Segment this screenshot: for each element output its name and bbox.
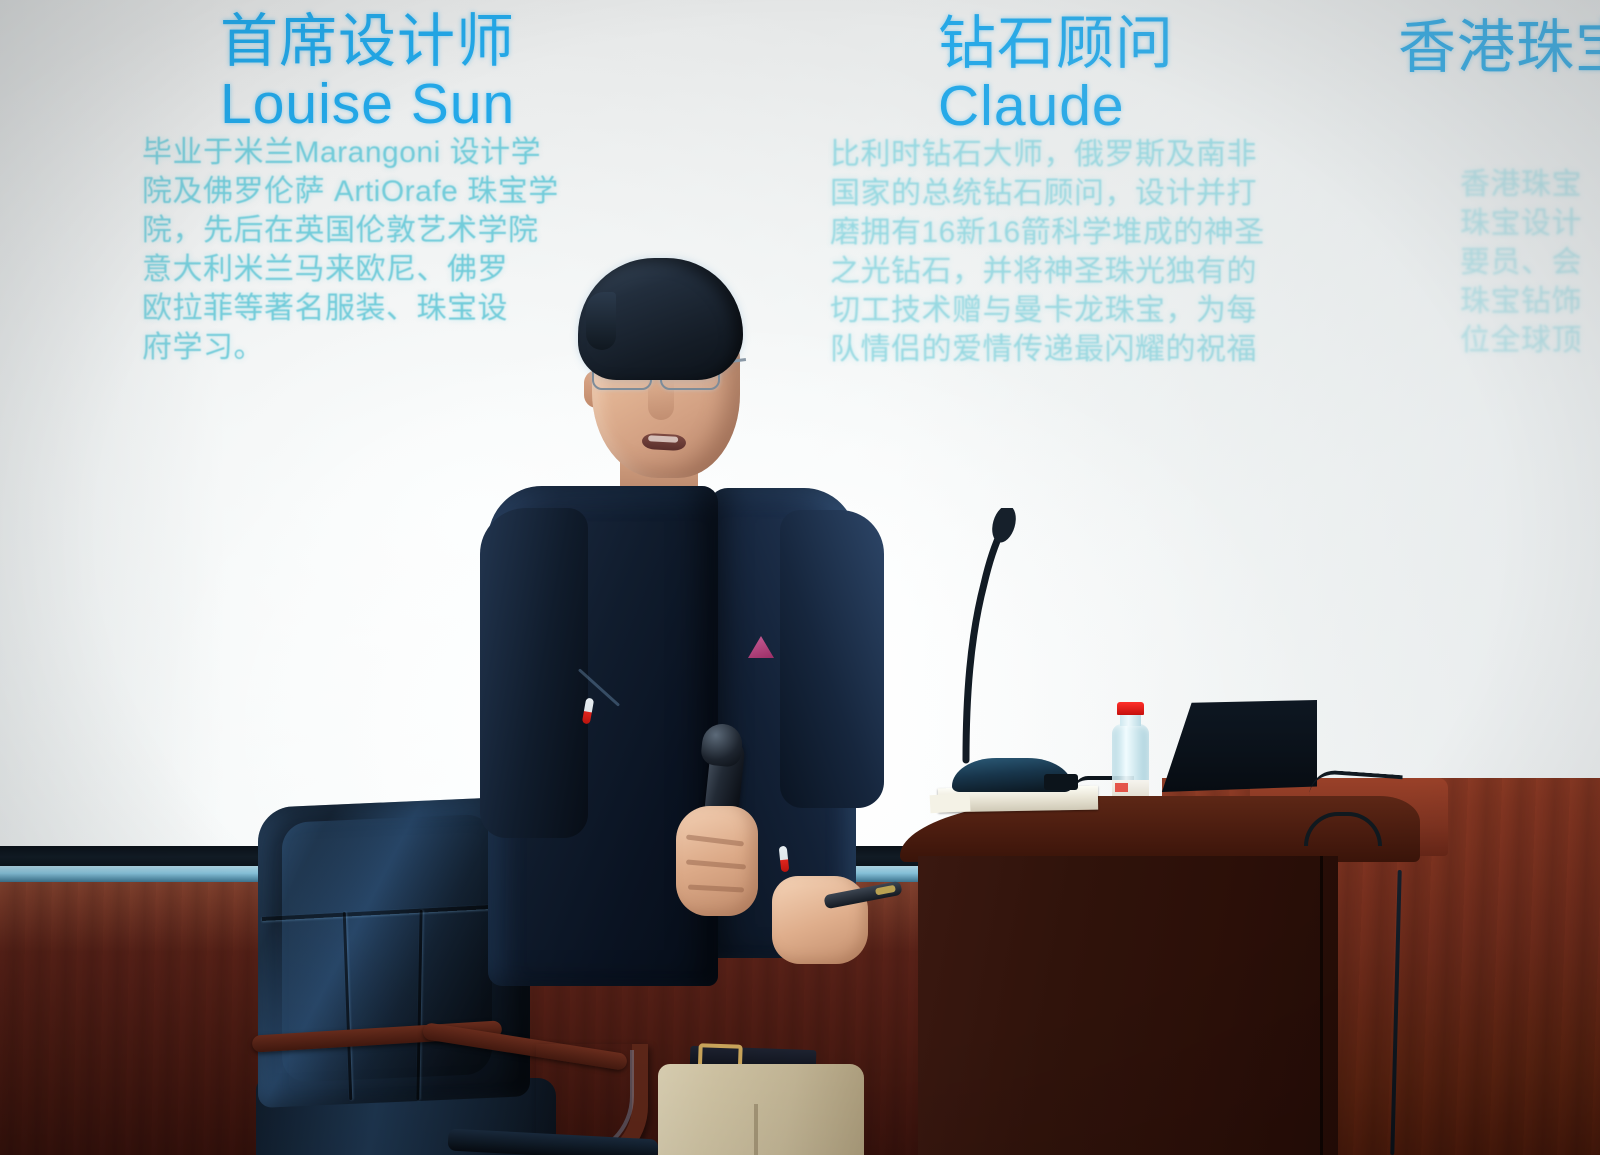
bottle-label [1112,780,1149,796]
bottle-neck [1120,714,1141,726]
lectern-edge [1320,856,1323,1155]
slide-column-1-title-cn: 首席设计师 [220,12,742,71]
slide-column-3-title-cn: 香港珠宝 [1398,18,1600,77]
presenter [480,258,900,1155]
slide-column-2-title-en: Claude [938,77,1370,135]
slide-line: 切工技术赠与曼卡龙珠宝，为每 [830,291,1370,330]
slide-column-3-body: 香港珠宝 珠宝设计 要员、会 珠宝钻饰 位全球顶 [1398,165,1600,360]
wooden-lectern [900,770,1600,1155]
microphone-connector [1044,774,1078,790]
slide-column-1-title: 首席设计师 Louise Sun [142,12,742,133]
slide-line: 院，先后在英国伦敦艺术学院 [142,211,742,250]
slide-line: 珠宝设计 [1460,204,1600,243]
slide-column-2: 钻石顾问 Claude 比利时钻石大师，俄罗斯及南非 国家的总统钻石顾问，设计并… [830,14,1370,369]
jacket-sleeve-right [780,510,884,808]
slide-line: 院及佛罗伦萨 ArtiOrafe 珠宝学 [142,172,742,211]
slide-column-2-title-cn: 钻石顾问 [938,14,1370,73]
slide-column-1-title-en: Louise Sun [220,75,742,133]
laptop-screen-lid [1152,700,1317,792]
lectern-front-panel [918,856,1338,1155]
presenter-hair [578,258,743,380]
water-bottle [1110,702,1150,796]
laptop [1152,700,1317,796]
slide-column-2-body: 比利时钻石大师，俄罗斯及南非 国家的总统钻石顾问，设计并打 磨拥有16新16箭科… [830,135,1370,369]
presenter-trousers [658,1064,864,1155]
slide-line: 要员、会 [1460,243,1600,282]
slide-line: 毕业于米兰Marangoni 设计学 [142,133,742,172]
slide-column-3: 香港珠宝 香港珠宝 珠宝设计 要员、会 珠宝钻饰 位全球顶 [1398,18,1600,360]
slide-line: 珠宝钻饰 [1460,282,1600,321]
gooseneck-microphone [950,508,1020,764]
mouth [642,433,687,451]
slide-line: 国家的总统钻石顾问，设计并打 [830,174,1370,213]
slide-line: 位全球顶 [1460,321,1600,360]
slide-line: 比利时钻石大师，俄罗斯及南非 [830,135,1370,174]
jacket-sleeve-left [480,508,588,838]
bottle-cap [1117,702,1144,715]
slide-line: 之光钻石，并将神圣珠光独有的 [830,252,1370,291]
slide-line: 队情侣的爱情传递最闪耀的祝福 [830,330,1370,369]
slide-column-2-title: 钻石顾问 Claude [830,14,1370,135]
slide-column-3-title: 香港珠宝 [1398,18,1600,77]
photo-scene: 首席设计师 Louise Sun 毕业于米兰Marangoni 设计学 院及佛罗… [0,0,1600,1155]
slide-line: 香港珠宝 [1460,165,1600,204]
slide-line: 磨拥有16新16箭科学堆成的神圣 [830,213,1370,252]
